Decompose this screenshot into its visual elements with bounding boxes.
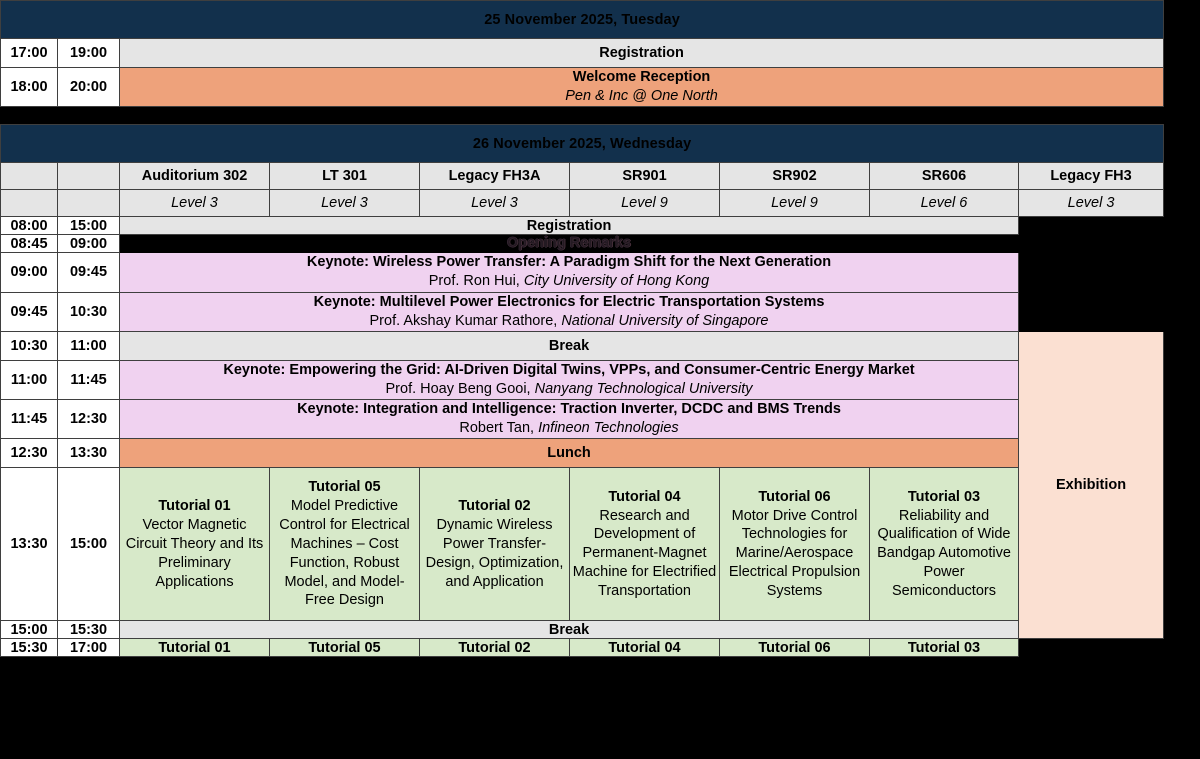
keynote-2-speaker: Prof. Akshay Kumar Rathore,: [370, 313, 558, 329]
keynote-2-affiliation: National University of Singapore: [561, 313, 768, 329]
registration-end: 15:00: [58, 217, 120, 235]
legacy-fh3-empty-k2: [1019, 292, 1164, 331]
keynote-2-start: 09:45: [1, 292, 58, 331]
break-2-end: 15:30: [58, 621, 120, 639]
room-header-auditorium-302: Auditorium 302: [120, 163, 270, 190]
level-spacer-end: [58, 190, 120, 217]
tutorial-slot2-cell-03[interactable]: Tutorial 03: [870, 639, 1019, 657]
tutorial-slot2-cell-05[interactable]: Tutorial 05: [270, 639, 420, 657]
room-level-auditorium-302: Level 3: [120, 190, 270, 217]
day-separator: [0, 107, 1163, 124]
legacy-fh3-empty-registration: [1019, 217, 1164, 235]
room-header-sr901: SR901: [570, 163, 720, 190]
keynote-3-cell: Keynote: Empowering the Grid: AI-Driven …: [120, 360, 1019, 399]
tutorial-slot2-cell-06[interactable]: Tutorial 06: [720, 639, 870, 657]
break-1-end: 11:00: [58, 331, 120, 360]
header-spacer-end: [58, 163, 120, 190]
day1-registration-cell: Registration: [120, 39, 1164, 68]
keynote-3-affiliation: Nanyang Technological University: [535, 381, 753, 397]
opening-end: 09:00: [58, 235, 120, 253]
break-row-2: 15:00 15:30 Break: [1, 621, 1164, 639]
keynote-2-end: 10:30: [58, 292, 120, 331]
lunch-end: 13:30: [58, 439, 120, 468]
room-level-lt-301: Level 3: [270, 190, 420, 217]
exhibition-cell: Exhibition: [1019, 331, 1164, 639]
tutorial-cell-04[interactable]: Tutorial 04 Research and Development of …: [570, 468, 720, 621]
opening-remarks-cell: Opening Remarks: [120, 235, 1019, 253]
tutorial-01-desc: Vector Magnetic Circuit Theory and Its P…: [120, 516, 269, 591]
tutorial-cell-03[interactable]: Tutorial 03 Reliability and Qualificatio…: [870, 468, 1019, 621]
level-spacer-start: [1, 190, 58, 217]
break-row-1: 10:30 11:00 Break Exhibition: [1, 331, 1164, 360]
day1-reception-row: 18:00 20:00 Welcome Reception Pen & Inc …: [1, 68, 1164, 107]
room-level-legacy-fh3a: Level 3: [420, 190, 570, 217]
break-1-start: 10:30: [1, 331, 58, 360]
tutorial-slot1-end: 15:00: [58, 468, 120, 621]
tutorial-02-desc: Dynamic Wireless Power Transfer-Design, …: [420, 516, 569, 591]
legacy-fh3-empty-opening: [1019, 235, 1164, 253]
keynote-1-title: Keynote: Wireless Power Transfer: A Para…: [120, 253, 1018, 272]
tutorial-03-name: Tutorial 03: [870, 488, 1018, 507]
keynote-row-2: 09:45 10:30 Keynote: Multilevel Power El…: [1, 292, 1164, 331]
keynote-row-4: 11:45 12:30 Keynote: Integration and Int…: [1, 400, 1164, 439]
keynote-row-3: 11:00 11:45 Keynote: Empowering the Grid…: [1, 360, 1164, 399]
room-level-sr902: Level 9: [720, 190, 870, 217]
keynote-1-end: 09:45: [58, 253, 120, 292]
lunch-start: 12:30: [1, 439, 58, 468]
keynote-1-speaker-line: Prof. Ron Hui, City University of Hong K…: [120, 272, 1018, 291]
tutorial-cell-01[interactable]: Tutorial 01 Vector Magnetic Circuit Theo…: [120, 468, 270, 621]
tutorial-slot2-cell-02[interactable]: Tutorial 02: [420, 639, 570, 657]
tutorial-04-name: Tutorial 04: [570, 488, 719, 507]
tutorial-slot1-row: 13:30 15:00 Tutorial 01 Vector Magnetic …: [1, 468, 1164, 621]
header-spacer-start: [1, 163, 58, 190]
tutorial-cell-02[interactable]: Tutorial 02 Dynamic Wireless Power Trans…: [420, 468, 570, 621]
tutorial-cell-06[interactable]: Tutorial 06 Motor Drive Control Technolo…: [720, 468, 870, 621]
keynote-1-speaker: Prof. Ron Hui,: [429, 273, 520, 289]
room-level-row: Level 3 Level 3 Level 3 Level 9 Level 9 …: [1, 190, 1164, 217]
day2-registration-cell: Registration: [120, 217, 1019, 235]
keynote-1-cell: Keynote: Wireless Power Transfer: A Para…: [120, 253, 1019, 292]
day1-registration-row: 17:00 19:00 Registration: [1, 39, 1164, 68]
opening-remarks-label: Opening Remarks: [120, 235, 1018, 252]
tutorial-01-name: Tutorial 01: [120, 497, 269, 516]
break-2-cell: Break: [120, 621, 1019, 639]
keynote-row-1: 09:00 09:45 Keynote: Wireless Power Tran…: [1, 253, 1164, 292]
tutorial-slot2-end: 17:00: [58, 639, 120, 657]
day2-registration-row: 08:00 15:00 Registration: [1, 217, 1164, 235]
tutorial-05-desc: Model Predictive Control for Electrical …: [270, 497, 419, 610]
tutorial-slot2-cell-01[interactable]: Tutorial 01: [120, 639, 270, 657]
tutorial-slot2-cell-04[interactable]: Tutorial 04: [570, 639, 720, 657]
day1-row0-end: 19:00: [58, 39, 120, 68]
day2-table: 26 November 2025, Wednesday Auditorium 3…: [0, 124, 1164, 657]
day2-banner-row: 26 November 2025, Wednesday: [1, 125, 1164, 163]
day1-table: 25 November 2025, Tuesday 17:00 19:00 Re…: [0, 0, 1164, 107]
keynote-4-title: Keynote: Integration and Intelligence: T…: [120, 400, 1018, 419]
break-2-start: 15:00: [1, 621, 58, 639]
day1-row1-start: 18:00: [1, 68, 58, 107]
day1-banner: 25 November 2025, Tuesday: [1, 1, 1164, 39]
schedule-sheet: 25 November 2025, Tuesday 17:00 19:00 Re…: [0, 0, 1163, 657]
tutorial-06-name: Tutorial 06: [720, 488, 869, 507]
tutorial-03-desc: Reliability and Qualification of Wide Ba…: [870, 507, 1018, 601]
room-level-sr606: Level 6: [870, 190, 1019, 217]
day1-banner-row: 25 November 2025, Tuesday: [1, 1, 1164, 39]
keynote-2-title: Keynote: Multilevel Power Electronics fo…: [120, 293, 1018, 312]
room-level-legacy-fh3: Level 3: [1019, 190, 1164, 217]
room-header-legacy-fh3a: Legacy FH3A: [420, 163, 570, 190]
room-header-row: Auditorium 302 LT 301 Legacy FH3A SR901 …: [1, 163, 1164, 190]
room-header-sr606: SR606: [870, 163, 1019, 190]
tutorial-06-desc: Motor Drive Control Technologies for Mar…: [720, 507, 869, 601]
day1-row0-start: 17:00: [1, 39, 58, 68]
lunch-cell: Lunch: [120, 439, 1019, 468]
break-1-cell: Break: [120, 331, 1019, 360]
keynote-3-end: 11:45: [58, 360, 120, 399]
day1-reception-title: Welcome Reception: [120, 68, 1163, 87]
keynote-4-cell: Keynote: Integration and Intelligence: T…: [120, 400, 1019, 439]
keynote-3-start: 11:00: [1, 360, 58, 399]
keynote-3-speaker: Prof. Hoay Beng Gooi,: [386, 381, 531, 397]
tutorial-cell-05[interactable]: Tutorial 05 Model Predictive Control for…: [270, 468, 420, 621]
room-header-lt-301: LT 301: [270, 163, 420, 190]
day2-banner: 26 November 2025, Wednesday: [1, 125, 1164, 163]
opening-start: 08:45: [1, 235, 58, 253]
keynote-2-cell: Keynote: Multilevel Power Electronics fo…: [120, 292, 1019, 331]
room-level-sr901: Level 9: [570, 190, 720, 217]
room-header-legacy-fh3: Legacy FH3: [1019, 163, 1164, 190]
lunch-row: 12:30 13:30 Lunch: [1, 439, 1164, 468]
room-header-sr902: SR902: [720, 163, 870, 190]
day1-reception-cell: Welcome Reception Pen & Inc @ One North: [120, 68, 1164, 107]
tutorial-04-desc: Research and Development of Permanent-Ma…: [570, 507, 719, 601]
keynote-4-affiliation: Infineon Technologies: [538, 420, 679, 436]
keynote-2-speaker-line: Prof. Akshay Kumar Rathore, National Uni…: [120, 312, 1018, 331]
tutorial-slot1-start: 13:30: [1, 468, 58, 621]
day1-reception-venue: Pen & Inc @ One North: [120, 87, 1163, 106]
tutorial-02-name: Tutorial 02: [420, 497, 569, 516]
keynote-3-speaker-line: Prof. Hoay Beng Gooi, Nanyang Technologi…: [120, 380, 1018, 399]
tutorial-slot2-start: 15:30: [1, 639, 58, 657]
day1-row1-end: 20:00: [58, 68, 120, 107]
opening-remarks-row: 08:45 09:00 Opening Remarks: [1, 235, 1164, 253]
keynote-4-end: 12:30: [58, 400, 120, 439]
registration-start: 08:00: [1, 217, 58, 235]
keynote-4-speaker-line: Robert Tan, Infineon Technologies: [120, 419, 1018, 438]
tutorial-slot2-row: 15:30 17:00 Tutorial 01 Tutorial 05 Tuto…: [1, 639, 1164, 657]
keynote-1-start: 09:00: [1, 253, 58, 292]
keynote-4-start: 11:45: [1, 400, 58, 439]
keynote-1-affiliation: City University of Hong Kong: [524, 273, 709, 289]
legacy-fh3-empty-k1: [1019, 253, 1164, 292]
tutorial-05-name: Tutorial 05: [270, 478, 419, 497]
keynote-4-speaker: Robert Tan,: [459, 420, 534, 436]
keynote-3-title: Keynote: Empowering the Grid: AI-Driven …: [120, 361, 1018, 380]
